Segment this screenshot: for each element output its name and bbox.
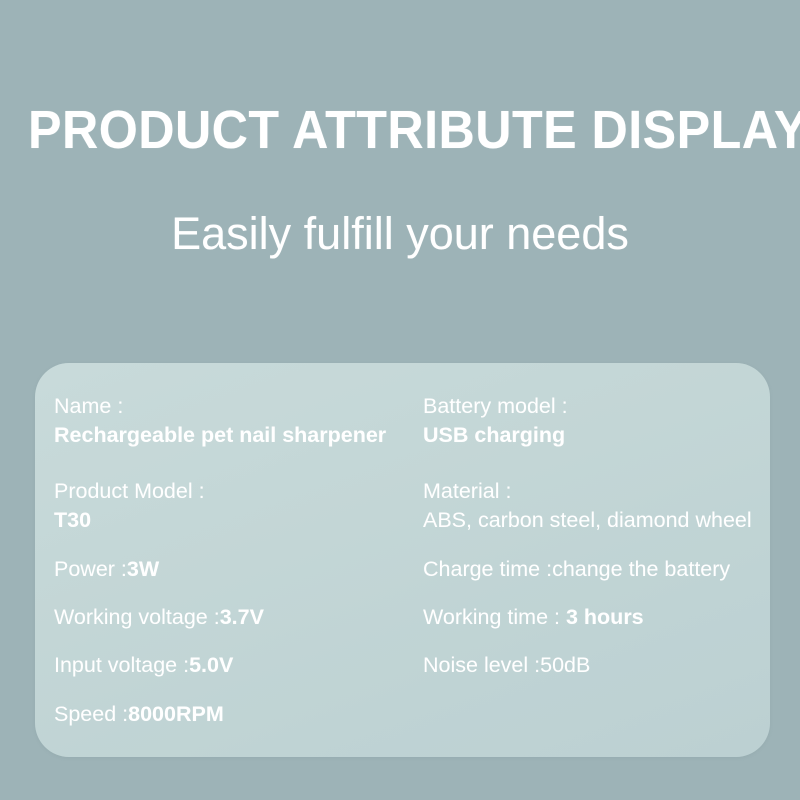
- spec-label-power: Power :: [54, 557, 127, 581]
- spec-label-noise-level: Noise level :: [423, 653, 540, 677]
- spec-row-charge-time: Charge time :change the battery: [423, 555, 770, 584]
- spec-value-material: ABS, carbon steel, diamond wheel: [423, 506, 770, 535]
- spec-row-noise-level: Noise level :50dB: [423, 651, 770, 680]
- spec-grid: Name : Rechargeable pet nail sharpener P…: [35, 363, 770, 757]
- spec-label-charge-time: Charge time :: [423, 557, 552, 581]
- spec-label-working-time: Working time :: [423, 605, 560, 629]
- spec-value-product-model: T30: [54, 506, 434, 535]
- product-attribute-page: PRODUCT ATTRIBUTE DISPLAY Easily fulfill…: [0, 0, 800, 800]
- spec-value-name: Rechargeable pet nail sharpener: [54, 421, 434, 450]
- spec-value-charge-time: change the battery: [552, 557, 730, 581]
- page-title: PRODUCT ATTRIBUTE DISPLAY: [28, 103, 772, 157]
- spec-row-input-voltage: Input voltage :5.0V: [54, 651, 434, 680]
- spec-value-working-voltage: 3.7V: [220, 605, 264, 629]
- spec-row-material: Material : ABS, carbon steel, diamond wh…: [423, 477, 770, 535]
- spec-label-product-model: Product Model :: [54, 479, 205, 503]
- spec-label-battery-model: Battery model :: [423, 394, 568, 418]
- spec-row-product-model: Product Model : T30: [54, 477, 434, 535]
- spec-value-battery-model: USB charging: [423, 421, 770, 450]
- spec-row-name: Name : Rechargeable pet nail sharpener: [54, 392, 434, 450]
- spec-label-input-voltage: Input voltage :: [54, 653, 189, 677]
- spec-row-speed: Speed :8000RPM: [54, 700, 434, 729]
- spec-value-speed: 8000RPM: [128, 702, 224, 726]
- spec-label-working-voltage: Working voltage :: [54, 605, 220, 629]
- spec-row-working-voltage: Working voltage :3.7V: [54, 603, 434, 632]
- spec-label-name: Name :: [54, 394, 123, 418]
- spec-value-power: 3W: [127, 557, 159, 581]
- spec-value-input-voltage: 5.0V: [189, 653, 233, 677]
- spec-card: Name : Rechargeable pet nail sharpener P…: [35, 363, 770, 757]
- spec-row-working-time: Working time : 3 hours: [423, 603, 770, 632]
- spec-value-noise-level: 50dB: [540, 653, 590, 677]
- page-subtitle: Easily fulfill your needs: [0, 211, 800, 256]
- spec-row-battery-model: Battery model : USB charging: [423, 392, 770, 450]
- spec-value-working-time: 3 hours: [566, 605, 644, 629]
- spec-label-speed: Speed :: [54, 702, 128, 726]
- spec-label-material: Material :: [423, 479, 511, 503]
- spec-row-power: Power :3W: [54, 555, 434, 584]
